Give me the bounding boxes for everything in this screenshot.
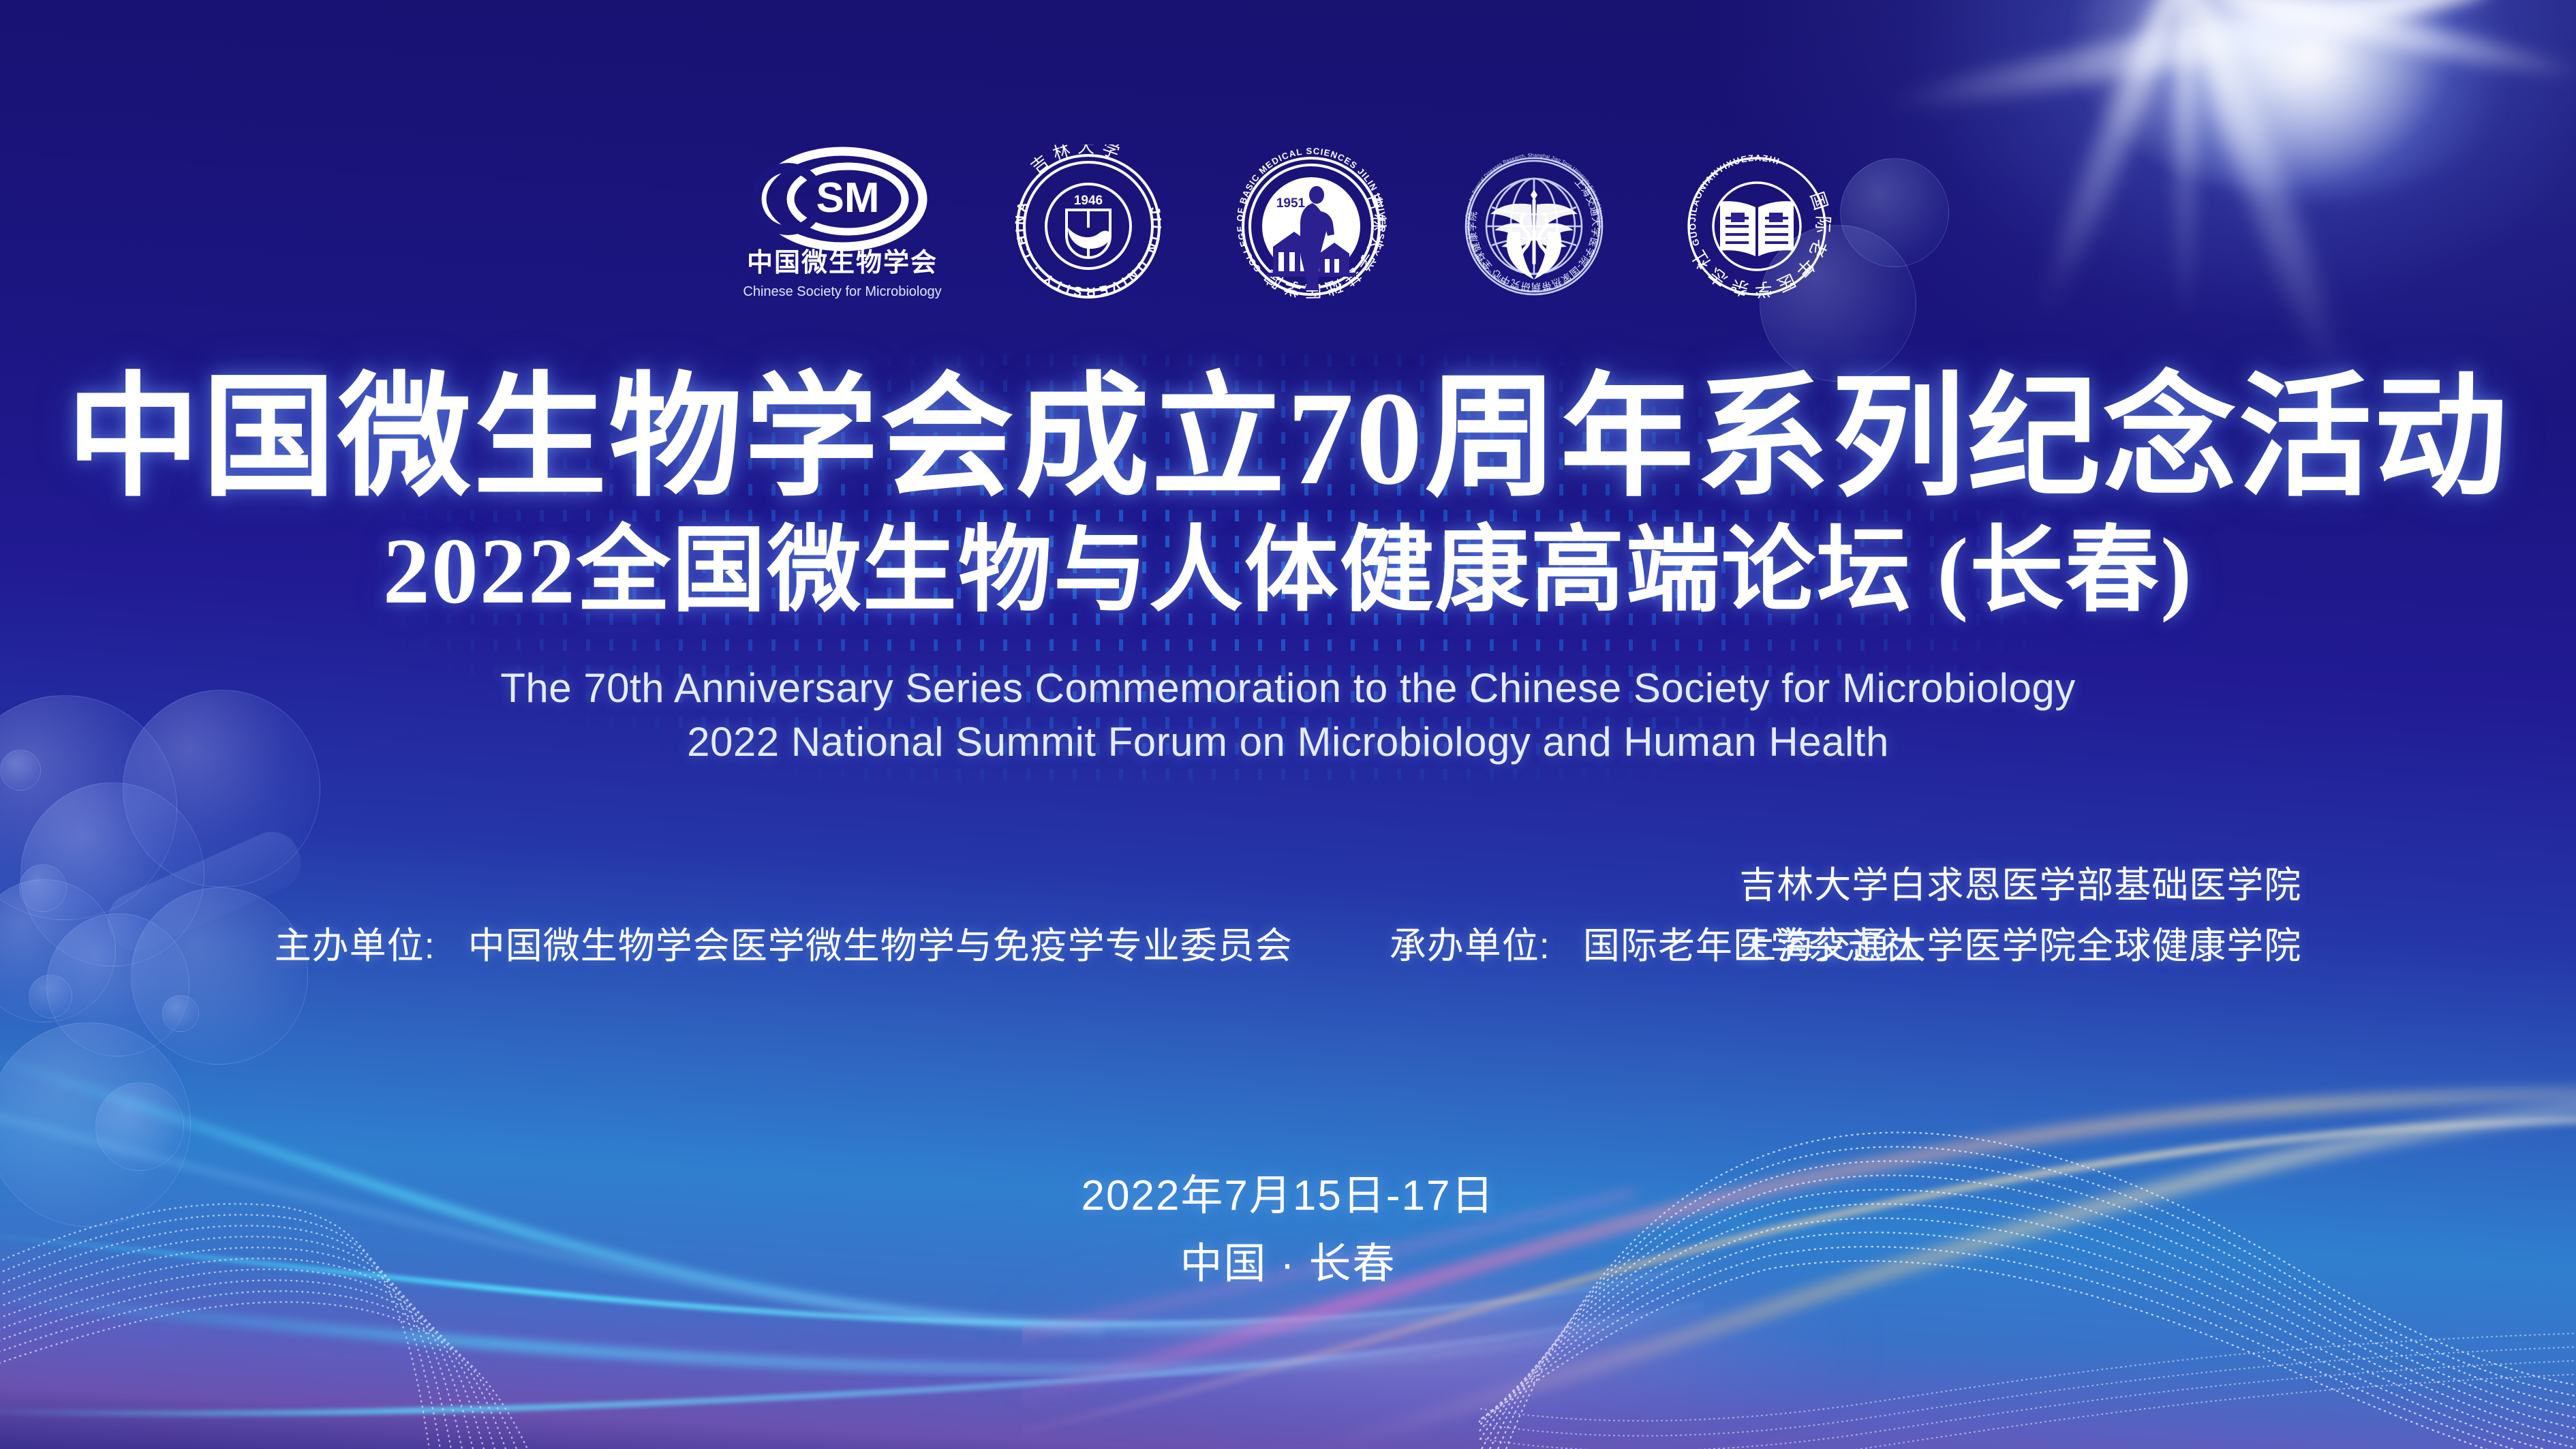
event-location: 中国 · 长春 — [0, 1230, 2576, 1298]
host-label: 主办单位: — [275, 926, 435, 966]
event-dates: 2022年7月15日-17日 — [0, 1162, 2576, 1230]
cohost-label: 承办单位: — [1390, 926, 1550, 966]
open-book-icon — [1720, 201, 1794, 256]
organizer-additional-2: 上海交通大学医学院全球健康学院 — [1739, 916, 2301, 977]
logo-chinese-society-for-microbiology: SM 中国微生物学会 Chinese Society for Microbiol… — [740, 144, 945, 315]
page-subtitle: 2022全国微生物与人体健康高端论坛 (长春) — [0, 514, 2576, 628]
english-title-line1: The 70th Anniversary Series Commemoratio… — [0, 661, 2576, 715]
logo2-chinese: 吉林大学 — [1028, 144, 1128, 177]
logo-row: SM 中国微生物学会 Chinese Society for Microbiol… — [0, 144, 2576, 315]
logo3-year: 1951 — [1276, 196, 1306, 211]
logo1-chinese: 中国微生物学会 — [747, 248, 938, 277]
english-title-block: The 70th Anniversary Series Commemoratio… — [0, 661, 2576, 769]
logo1-english: Chinese Society for Microbiology — [743, 284, 941, 299]
logo2-year: 1946 — [1074, 194, 1103, 208]
page-title: 中国微生物学会成立70周年系列纪念活动 — [0, 368, 2576, 510]
svg-text:SM: SM — [816, 174, 880, 222]
host-name: 中国微生物学会医学微生物学与免疫学专业委员会 — [468, 926, 1293, 966]
organizer-row-primary: 主办单位: 中国微生物学会医学微生物学与免疫学专业委员会 承办单位: 国际老年医… — [275, 916, 1920, 977]
organizer-additional-1: 吉林大学白求恩医学部基础医学院 — [1739, 855, 2301, 916]
logo-international-journal-of-geriatrics: 国际老年医学杂志社 GUOJILAONIANYIXUEZAZHI — [1678, 144, 1836, 315]
logo-jilin-university: JILIN UNIVERSITY · CHINA 吉林大学 1946 — [1009, 144, 1167, 315]
center-bottom-glow — [1022, 1281, 1840, 1404]
conference-banner: SM 中国微生物学会 Chinese Society for Microbiol… — [0, 0, 2576, 1449]
organizer-block: 主办单位: 中国微生物学会医学微生物学与免疫学专业委员会 承办单位: 国际老年医… — [0, 855, 2576, 976]
logo-school-of-global-health-sjtu: 上海交通大学医学院-国家热带病研究中心 全球健康学院 School of Glo… — [1455, 144, 1613, 315]
logo-college-of-basic-medical-sciences: 吉林大学基础医学院 COLLEGE OF BASIC MEDICAL SCIEN… — [1232, 144, 1390, 315]
title-block: 中国微生物学会成立70周年系列纪念活动 2022全国微生物与人体健康高端论坛 (… — [0, 368, 2576, 769]
organizer-additional-block: 吉林大学白求恩医学部基础医学院 上海交通大学医学院全球健康学院 — [1739, 855, 2301, 976]
english-title-line2: 2022 National Summit Forum on Microbiolo… — [0, 715, 2576, 769]
event-details-block: 2022年7月15日-17日 中国 · 长春 — [0, 1162, 2576, 1299]
